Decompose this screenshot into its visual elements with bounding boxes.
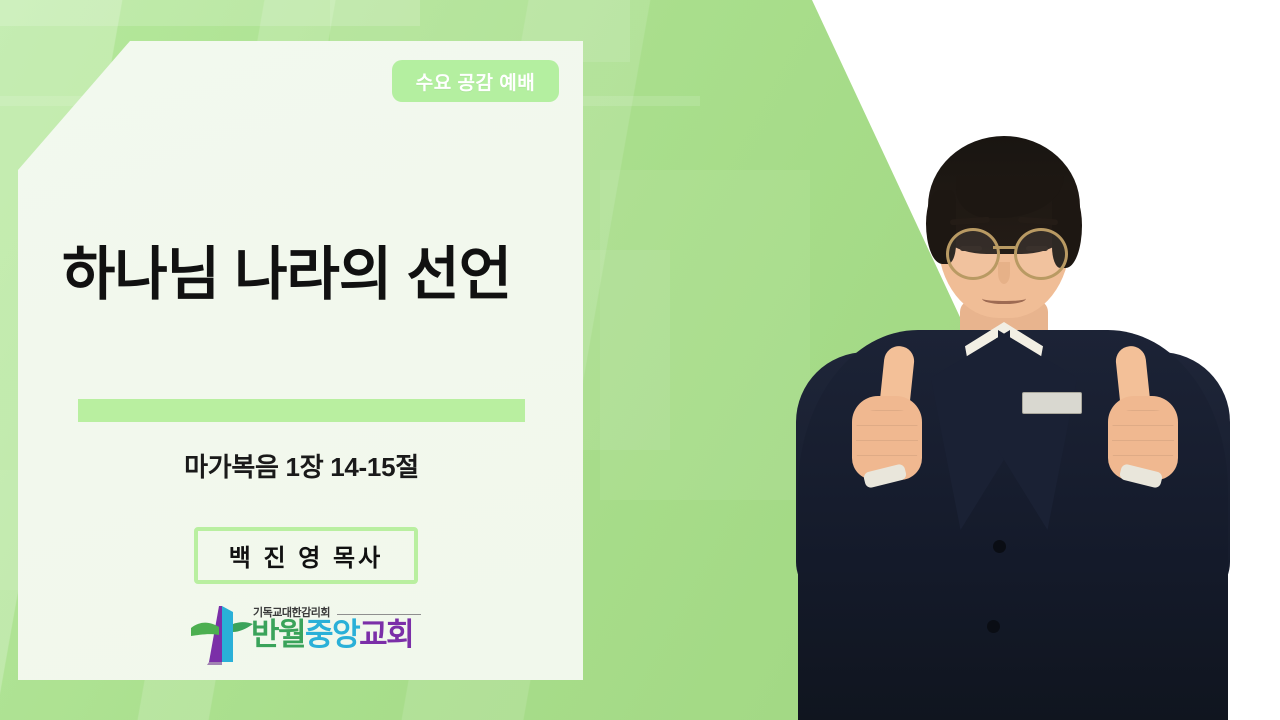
sermon-title: 하나님 나라의 선언 <box>62 243 562 307</box>
church-name-part-2: 중앙 <box>305 617 359 652</box>
church-name: 반월중앙교회 <box>251 619 413 650</box>
knuckles-right <box>1112 410 1174 470</box>
background-streak <box>0 0 420 26</box>
jacket-button <box>987 620 1000 633</box>
church-name-part-1: 반월 <box>251 617 305 652</box>
speaker-box: 백 진 영 목사 <box>194 527 418 584</box>
mouth <box>982 292 1026 304</box>
logo-rule <box>337 614 421 615</box>
service-type-badge: 수요 공감 예배 <box>392 60 559 102</box>
speaker-name: 백 진 영 목사 <box>229 538 383 573</box>
church-name-part-3: 교회 <box>359 617 413 652</box>
title-card-stage: 수요 공감 예배 하나님 나라의 선언 마가복음 1장 14-15절 백 진 영… <box>0 0 1280 720</box>
accent-divider-bar <box>78 399 525 422</box>
eyeglasses-lens-left <box>946 228 1000 280</box>
name-badge <box>1022 392 1082 414</box>
knuckles-left <box>856 410 918 470</box>
content-panel <box>18 41 583 680</box>
eyeglasses-lens-right <box>1014 228 1068 280</box>
jacket-button <box>993 540 1006 553</box>
church-logo: 기독교대한감리회 반월중앙교회 <box>189 600 423 668</box>
nose <box>998 262 1010 284</box>
preacher-photo <box>760 0 1280 720</box>
cross-emblem-icon <box>189 602 255 666</box>
scripture-reference: 마가복음 1장 14-15절 <box>78 447 525 484</box>
service-type-badge-label: 수요 공감 예배 <box>416 68 535 95</box>
eyeglasses-bridge <box>993 246 1015 249</box>
church-logo-text: 기독교대한감리회 반월중앙교회 <box>253 600 423 668</box>
